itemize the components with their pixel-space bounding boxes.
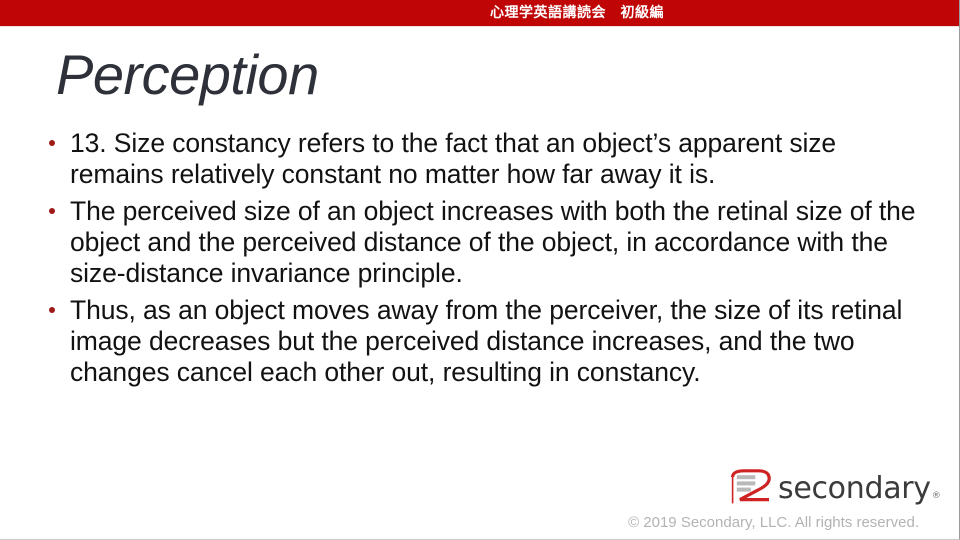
slide-canvas: 心理学英語講読会 初級編 Perception 13. Size constan… [0, 0, 960, 540]
copyright-notice: © 2019 Secondary, LLC. All rights reserv… [628, 514, 919, 531]
list-item-text: The perceived size of an object increase… [70, 196, 915, 288]
list-item-text: 13. Size constancy refers to the fact th… [70, 128, 836, 189]
list-item-text: Thus, as an object moves away from the p… [70, 295, 902, 387]
logo-wordmark: secondary [778, 474, 931, 504]
header-divider [0, 26, 960, 27]
bullet-list: 13. Size constancy refers to the fact th… [44, 128, 920, 394]
page-title: Perception [56, 44, 319, 106]
list-item: 13. Size constancy refers to the fact th… [44, 128, 920, 190]
bullet-dot-icon [49, 140, 55, 146]
registered-trademark-icon: ® [932, 491, 941, 501]
list-item: Thus, as an object moves away from the p… [44, 295, 920, 388]
bullet-dot-icon [49, 208, 55, 214]
brand-logo: secondary ® [727, 467, 940, 509]
header-title: 心理学英語講読会 初級編 [0, 0, 960, 26]
list-item: The perceived size of an object increase… [44, 196, 920, 289]
bullet-dot-icon [49, 307, 55, 313]
header-band: 心理学英語講読会 初級編 [0, 0, 960, 26]
stacked-books-two-icon [727, 469, 773, 507]
